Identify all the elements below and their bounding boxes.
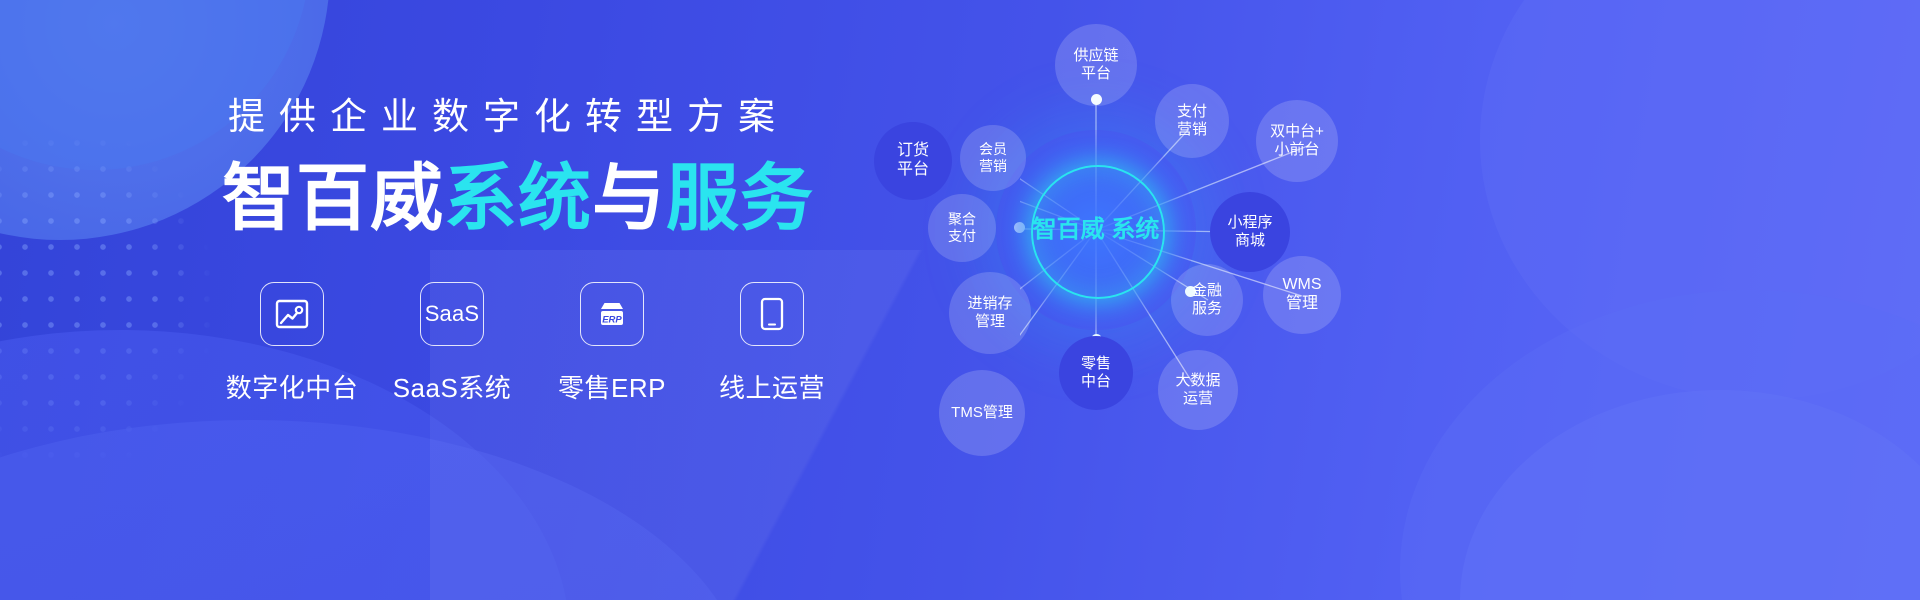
hub-ring: [1031, 165, 1165, 299]
node-label-line1: 聚合: [948, 211, 976, 228]
node-mini-program-mall[interactable]: 小程序 商城: [1210, 192, 1290, 272]
node-finance-service[interactable]: 金融 服务: [1171, 264, 1243, 336]
node-label-line1: 大数据: [1175, 372, 1220, 390]
node-tms-management[interactable]: TMS管理: [939, 370, 1025, 456]
headline-block: 提供企业数字化转型方案 智百威系统与服务 数字化中台 SaaS: [0, 0, 900, 600]
node-label-line1: 支付: [1177, 103, 1207, 121]
node-label-line1: 进销存: [967, 295, 1012, 313]
node-label-line2: 中台: [1081, 373, 1111, 391]
node-bigdata-operation[interactable]: 大数据 运营: [1158, 350, 1238, 430]
mobile-phone-icon: [740, 282, 804, 346]
node-label-line1: 零售: [1081, 355, 1111, 373]
feature-list: 数字化中台 SaaS SaaS系统 ERP 零售ERP: [222, 282, 842, 462]
node-label-line1: WMS: [1282, 276, 1321, 295]
feature-label: 零售ERP: [558, 368, 666, 405]
node-payment-marketing[interactable]: 支付 营销: [1155, 84, 1229, 158]
node-supply-chain[interactable]: 供应链 平台: [1055, 24, 1137, 106]
node-label-line1: 供应链: [1073, 47, 1118, 65]
feature-item-retail-erp[interactable]: ERP 零售ERP: [542, 282, 682, 405]
node-label-line1: 小程序: [1227, 214, 1272, 232]
node-label-line2: 平台: [1073, 65, 1118, 83]
node-label-line2: 小前台: [1270, 141, 1324, 159]
node-label-line2: 管理: [1282, 295, 1321, 314]
node-label-line1: 订货: [897, 142, 929, 161]
node-retail-midend[interactable]: 零售 中台: [1059, 336, 1133, 410]
node-dual-midend[interactable]: 双中台+ 小前台: [1256, 100, 1338, 182]
feature-label: 数字化中台: [226, 368, 359, 405]
node-label-line2: 营销: [979, 158, 1007, 175]
title-part-1: 智百威: [222, 158, 444, 239]
node-label-line1: 金融: [1192, 282, 1222, 300]
node-label-line2: 商城: [1227, 232, 1272, 250]
feature-label: 线上运营: [719, 368, 825, 405]
erp-box-icon: ERP: [580, 282, 644, 346]
feature-item-digital-midend[interactable]: 数字化中台: [222, 282, 362, 405]
saas-text-icon: SaaS: [420, 282, 484, 346]
node-wms-management[interactable]: WMS 管理: [1263, 256, 1341, 334]
node-label-line2: 运营: [1175, 390, 1220, 408]
node-order-platform[interactable]: 订货 平台: [874, 122, 952, 200]
node-label-line2: 服务: [1192, 300, 1222, 318]
node-label-line2: 管理: [967, 313, 1012, 331]
node-label-line2: 平台: [897, 161, 929, 180]
feature-label: SaaS系统: [393, 368, 512, 405]
subtitle: 提供企业数字化转型方案: [228, 98, 828, 135]
node-label-line2: 支付: [948, 228, 976, 245]
chart-image-icon: [260, 282, 324, 346]
feature-item-online-operation[interactable]: 线上运营: [702, 282, 842, 405]
saas-icon-text: SaaS: [425, 301, 480, 327]
title-part-4: 服务: [666, 158, 814, 239]
title-part-3: 与: [592, 158, 666, 239]
feature-item-saas[interactable]: SaaS SaaS系统: [382, 282, 522, 405]
node-aggregate-payment[interactable]: 聚合 支付: [928, 194, 996, 262]
node-label-line1: 会员: [979, 141, 1007, 158]
ecosystem-diagram: 智百威 系统 供应链 平台 支付 营销 双中台+ 小前台: [1020, 0, 1920, 600]
svg-text:ERP: ERP: [602, 314, 622, 325]
node-label-line2: 营销: [1177, 121, 1207, 139]
node-member-marketing[interactable]: 会员 营销: [960, 125, 1026, 191]
page-title: 智百威系统与服务: [222, 160, 922, 239]
title-part-2: 系统: [444, 158, 592, 239]
node-label-line1: 双中台+: [1270, 123, 1324, 141]
node-inventory-management[interactable]: 进销存 管理: [949, 272, 1031, 354]
promo-banner: 提供企业数字化转型方案 智百威系统与服务 数字化中台 SaaS: [0, 0, 1920, 600]
node-label-line1: TMS管理: [951, 404, 1013, 422]
